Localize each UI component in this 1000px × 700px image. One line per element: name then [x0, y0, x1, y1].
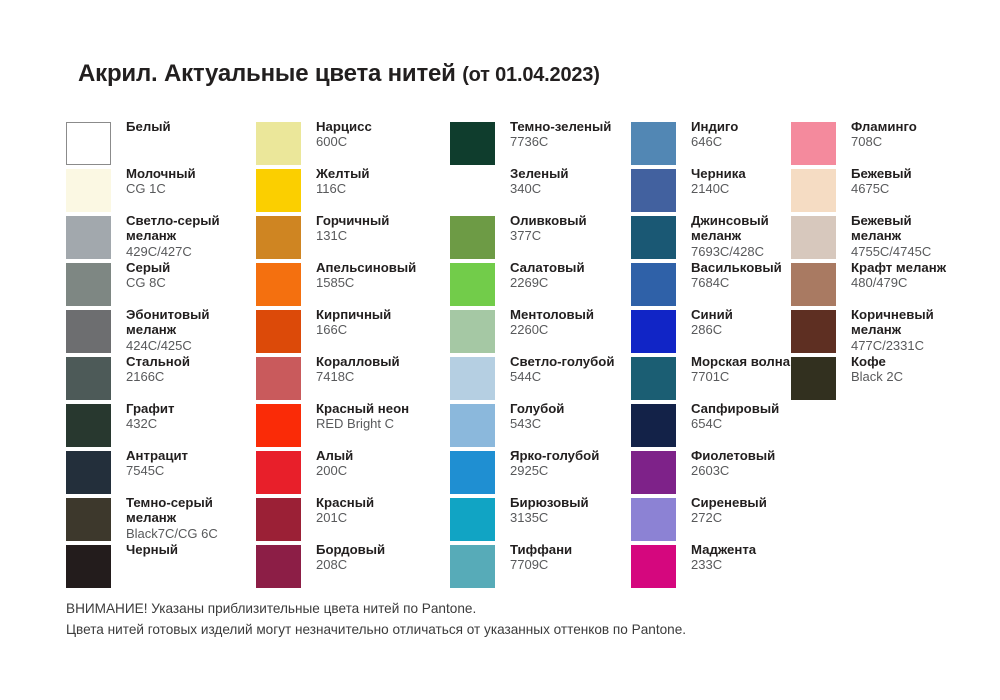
color-code: 2269C — [510, 275, 650, 290]
color-name: Графит — [126, 401, 266, 416]
color-name: Светло-серый меланж — [126, 213, 266, 244]
color-code: 2603C — [691, 463, 831, 478]
color-code: 208C — [316, 557, 466, 572]
color-swatch[interactable] — [450, 357, 495, 400]
swatch-row[interactable]: Бежевый меланж4755C/4745C — [791, 212, 991, 259]
color-name: Фиолетовый — [691, 448, 831, 463]
color-swatch[interactable] — [66, 263, 111, 306]
swatch-labels: Апельсиновый1585C — [316, 260, 466, 291]
color-code: 600C — [316, 134, 466, 149]
color-name: Коричневый меланж — [851, 307, 1000, 338]
swatch-labels: Бордовый208C — [316, 542, 466, 573]
color-swatch[interactable] — [631, 122, 676, 165]
swatch-row[interactable]: Фламинго708C — [791, 118, 991, 165]
swatch-row[interactable]: Ярко-голубой2925C — [450, 447, 630, 494]
swatch-row[interactable]: Салатовый2269C — [450, 259, 630, 306]
column-3-greens-blues: Темно-зеленый7736CЗеленый340CОливковый37… — [450, 118, 630, 588]
swatch-labels: Фламинго708C — [851, 119, 1000, 150]
color-code: 3135C — [510, 510, 650, 525]
color-swatch[interactable] — [791, 122, 836, 165]
swatch-row[interactable]: Графит432C — [66, 400, 256, 447]
swatch-labels: Красный неонRED Bright C — [316, 401, 466, 432]
swatch-row[interactable]: Бежевый4675C — [791, 165, 991, 212]
color-swatch[interactable] — [256, 122, 301, 165]
swatch-labels: Сиреневый272C — [691, 495, 831, 526]
swatch-row[interactable]: Кирпичный166C — [256, 306, 448, 353]
color-swatch[interactable] — [450, 545, 495, 588]
color-name: Нарцисс — [316, 119, 466, 134]
color-code: 424C/425C — [126, 338, 266, 353]
color-swatch[interactable] — [66, 216, 111, 259]
swatch-row[interactable]: КофеBlack 2C — [791, 353, 991, 400]
swatch-labels: Желтый116C — [316, 166, 466, 197]
swatch-row[interactable]: Бордовый208C — [256, 541, 448, 588]
swatch-row[interactable]: Тиффани7709C — [450, 541, 630, 588]
color-name: Фламинго — [851, 119, 1000, 134]
color-swatch[interactable] — [791, 263, 836, 306]
color-code: 432C — [126, 416, 266, 431]
swatch-row[interactable]: Апельсиновый1585C — [256, 259, 448, 306]
color-swatch[interactable] — [631, 169, 676, 212]
swatch-row[interactable]: Коричневый меланж477C/2331C — [791, 306, 991, 353]
swatch-labels: Бежевый меланж4755C/4745C — [851, 213, 1000, 259]
color-swatch[interactable] — [791, 357, 836, 400]
color-code: 377C — [510, 228, 650, 243]
swatch-row[interactable]: Коралловый7418C — [256, 353, 448, 400]
swatch-labels: Красный201C — [316, 495, 466, 526]
color-swatch[interactable] — [256, 169, 301, 212]
color-code: 7736C — [510, 134, 650, 149]
swatch-row[interactable]: Стальной2166C — [66, 353, 256, 400]
color-code: 116C — [316, 181, 466, 196]
color-swatch[interactable] — [66, 357, 111, 400]
swatch-labels: Алый200C — [316, 448, 466, 479]
swatch-row[interactable]: Синий286C — [631, 306, 791, 353]
footer-line-1: ВНИМАНИЕ! Указаны приблизительные цвета … — [66, 598, 946, 619]
color-code: CG 1C — [126, 181, 266, 196]
color-swatch[interactable] — [791, 310, 836, 353]
swatch-row[interactable]: Ментоловый2260C — [450, 306, 630, 353]
color-name: Голубой — [510, 401, 650, 416]
swatch-labels: Крафт меланж480/479C — [851, 260, 1000, 291]
swatch-row[interactable]: Антрацит7545C — [66, 447, 256, 494]
color-code: 4675C — [851, 181, 1000, 196]
swatch-row[interactable]: Маджента233C — [631, 541, 791, 588]
color-name: Ментоловый — [510, 307, 650, 322]
color-name: Сиреневый — [691, 495, 831, 510]
swatch-row[interactable]: Васильковый7684C — [631, 259, 791, 306]
color-swatch[interactable] — [631, 263, 676, 306]
color-code: 543C — [510, 416, 650, 431]
swatch-row[interactable]: МолочныйCG 1C — [66, 165, 256, 212]
color-code: 200C — [316, 463, 466, 478]
color-swatch[interactable] — [66, 545, 111, 588]
swatch-row[interactable]: Нарцисс600C — [256, 118, 448, 165]
color-name: Кирпичный — [316, 307, 466, 322]
color-name: Желтый — [316, 166, 466, 181]
swatch-row[interactable]: Белый — [66, 118, 256, 165]
column-1-neutrals: БелыйМолочныйCG 1CСветло-серый меланж429… — [66, 118, 256, 588]
color-swatch[interactable] — [256, 404, 301, 447]
color-swatch[interactable] — [631, 451, 676, 494]
column-5-pinks-browns: Фламинго708CБежевый4675CБежевый меланж47… — [791, 118, 991, 400]
color-code: 233C — [691, 557, 831, 572]
color-swatch[interactable] — [450, 122, 495, 165]
color-name: Эбонитовый меланж — [126, 307, 266, 338]
swatch-row[interactable]: Индиго646C — [631, 118, 791, 165]
color-name: Салатовый — [510, 260, 650, 275]
color-swatch[interactable] — [450, 451, 495, 494]
color-code: 7418C — [316, 369, 466, 384]
swatch-row[interactable]: Зеленый340C — [450, 165, 630, 212]
swatch-row[interactable]: Оливковый377C — [450, 212, 630, 259]
color-name: Крафт меланж — [851, 260, 1000, 275]
color-code: 429C/427C — [126, 244, 266, 259]
color-swatch[interactable] — [450, 498, 495, 541]
swatch-labels: СерыйCG 8C — [126, 260, 266, 291]
swatch-row[interactable]: Темно-серый меланжBlack7C/CG 6C — [66, 494, 256, 541]
color-name: Алый — [316, 448, 466, 463]
color-code: 272C — [691, 510, 831, 525]
color-swatch[interactable] — [631, 545, 676, 588]
color-swatch[interactable] — [631, 498, 676, 541]
color-name: Белый — [126, 119, 266, 134]
color-swatch[interactable] — [256, 357, 301, 400]
color-code: 1585C — [316, 275, 466, 290]
swatch-row[interactable]: Морская волна7701C — [631, 353, 791, 400]
color-code: 2166C — [126, 369, 266, 384]
color-swatch[interactable] — [450, 310, 495, 353]
color-name: Темно-серый меланж — [126, 495, 266, 526]
color-code: 166C — [316, 322, 466, 337]
color-swatch[interactable] — [66, 122, 111, 165]
color-name: Бежевый меланж — [851, 213, 1000, 244]
color-swatch[interactable] — [256, 310, 301, 353]
color-code: 7709C — [510, 557, 650, 572]
color-code: 544C — [510, 369, 650, 384]
color-code: 708C — [851, 134, 1000, 149]
color-swatch[interactable] — [450, 404, 495, 447]
color-swatch[interactable] — [66, 169, 111, 212]
swatch-labels: Оливковый377C — [510, 213, 650, 244]
color-code: 201C — [316, 510, 466, 525]
color-name: Апельсиновый — [316, 260, 466, 275]
swatch-row[interactable]: Горчичный131C — [256, 212, 448, 259]
swatch-labels: Голубой543C — [510, 401, 650, 432]
color-swatch[interactable] — [450, 263, 495, 306]
color-code: 7545C — [126, 463, 266, 478]
color-code: 131C — [316, 228, 466, 243]
swatch-row[interactable]: Светло-голубой544C — [450, 353, 630, 400]
swatch-labels: МолочныйCG 1C — [126, 166, 266, 197]
color-swatch[interactable] — [66, 451, 111, 494]
color-name: Горчичный — [316, 213, 466, 228]
color-name: Кофе — [851, 354, 1000, 369]
color-code: 2925C — [510, 463, 650, 478]
swatch-labels: Белый — [126, 119, 266, 134]
color-name: Бежевый — [851, 166, 1000, 181]
color-name: Черный — [126, 542, 266, 557]
swatch-labels: Фиолетовый2603C — [691, 448, 831, 479]
page-title-main: Акрил. Актуальные цвета нитей — [78, 60, 462, 87]
swatch-labels: Зеленый340C — [510, 166, 650, 197]
swatch-labels: Эбонитовый меланж424C/425C — [126, 307, 266, 353]
color-swatch[interactable] — [256, 216, 301, 259]
color-code: 4755C/4745C — [851, 244, 1000, 259]
swatch-labels: Коричневый меланж477C/2331C — [851, 307, 1000, 353]
swatch-row[interactable]: Черный — [66, 541, 256, 588]
color-swatch[interactable] — [631, 357, 676, 400]
color-name: Ярко-голубой — [510, 448, 650, 463]
swatch-labels: КофеBlack 2C — [851, 354, 1000, 385]
color-code: 480/479C — [851, 275, 1000, 290]
swatch-row[interactable]: СерыйCG 8C — [66, 259, 256, 306]
color-swatch[interactable] — [450, 216, 495, 259]
color-name: Красный неон — [316, 401, 466, 416]
color-swatch[interactable] — [450, 169, 495, 212]
color-name: Коралловый — [316, 354, 466, 369]
color-swatch[interactable] — [631, 216, 676, 259]
swatch-row[interactable]: Темно-зеленый7736C — [450, 118, 630, 165]
swatch-row[interactable]: Сапфировый654C — [631, 400, 791, 447]
footer-note: ВНИМАНИЕ! Указаны приблизительные цвета … — [66, 598, 946, 640]
color-swatch[interactable] — [66, 310, 111, 353]
color-swatch[interactable] — [256, 451, 301, 494]
color-code: 477C/2331C — [851, 338, 1000, 353]
swatch-row[interactable]: Сиреневый272C — [631, 494, 791, 541]
color-name: Серый — [126, 260, 266, 275]
swatch-labels: Темно-зеленый7736C — [510, 119, 650, 150]
swatch-labels: Ментоловый2260C — [510, 307, 650, 338]
swatch-row[interactable]: Красный201C — [256, 494, 448, 541]
swatch-row[interactable]: Красный неонRED Bright C — [256, 400, 448, 447]
color-name: Оливковый — [510, 213, 650, 228]
swatch-labels: Горчичный131C — [316, 213, 466, 244]
color-swatch[interactable] — [791, 169, 836, 212]
swatch-row[interactable]: Джинсовый меланж7693C/428C — [631, 212, 791, 259]
swatch-labels: Черный — [126, 542, 266, 557]
color-swatch[interactable] — [256, 498, 301, 541]
color-name: Антрацит — [126, 448, 266, 463]
swatch-labels: Кирпичный166C — [316, 307, 466, 338]
page-title-date: (от 01.04.2023) — [462, 64, 600, 86]
swatch-row[interactable]: Фиолетовый2603C — [631, 447, 791, 494]
color-name: Молочный — [126, 166, 266, 181]
column-2-warm: Нарцисс600CЖелтый116CГорчичный131CАпельс… — [256, 118, 448, 588]
column-4-blues-purples: Индиго646CЧерника2140CДжинсовый меланж76… — [631, 118, 791, 588]
swatch-row[interactable]: Крафт меланж480/479C — [791, 259, 991, 306]
color-name: Светло-голубой — [510, 354, 650, 369]
swatch-labels: Стальной2166C — [126, 354, 266, 385]
color-name: Бирюзовый — [510, 495, 650, 510]
color-code: Black7C/CG 6C — [126, 526, 266, 541]
color-swatch[interactable] — [631, 404, 676, 447]
swatch-labels: Нарцисс600C — [316, 119, 466, 150]
swatch-row[interactable]: Черника2140C — [631, 165, 791, 212]
color-name: Зеленый — [510, 166, 650, 181]
color-name: Маджента — [691, 542, 831, 557]
color-name: Темно-зеленый — [510, 119, 650, 134]
color-name: Тиффани — [510, 542, 650, 557]
color-name: Красный — [316, 495, 466, 510]
swatch-labels: Графит432C — [126, 401, 266, 432]
swatch-labels: Ярко-голубой2925C — [510, 448, 650, 479]
swatch-labels: Светло-серый меланж429C/427C — [126, 213, 266, 259]
color-swatch[interactable] — [66, 498, 111, 541]
swatch-labels: Светло-голубой544C — [510, 354, 650, 385]
swatch-row[interactable]: Желтый116C — [256, 165, 448, 212]
swatch-labels: Бирюзовый3135C — [510, 495, 650, 526]
swatch-labels: Тиффани7709C — [510, 542, 650, 573]
color-code: 654C — [691, 416, 831, 431]
color-swatch[interactable] — [256, 263, 301, 306]
color-swatch[interactable] — [66, 404, 111, 447]
swatch-labels: Коралловый7418C — [316, 354, 466, 385]
swatch-row[interactable]: Светло-серый меланж429C/427C — [66, 212, 256, 259]
color-code: Black 2C — [851, 369, 1000, 384]
color-code: RED Bright C — [316, 416, 466, 431]
swatch-row[interactable]: Эбонитовый меланж424C/425C — [66, 306, 256, 353]
color-code: 340C — [510, 181, 650, 196]
swatch-labels: Темно-серый меланжBlack7C/CG 6C — [126, 495, 266, 541]
color-name: Стальной — [126, 354, 266, 369]
color-swatch[interactable] — [791, 216, 836, 259]
color-swatch[interactable] — [256, 545, 301, 588]
page-title: Акрил. Актуальные цвета нитей (от 01.04.… — [78, 60, 600, 88]
color-name: Бордовый — [316, 542, 466, 557]
footer-line-2: Цвета нитей готовых изделий могут незнач… — [66, 619, 946, 640]
swatch-labels: Бежевый4675C — [851, 166, 1000, 197]
swatch-labels: Сапфировый654C — [691, 401, 831, 432]
swatch-labels: Антрацит7545C — [126, 448, 266, 479]
swatch-labels: Салатовый2269C — [510, 260, 650, 291]
swatch-labels: Маджента233C — [691, 542, 831, 573]
swatch-row[interactable]: Бирюзовый3135C — [450, 494, 630, 541]
swatch-row[interactable]: Голубой543C — [450, 400, 630, 447]
color-swatch[interactable] — [631, 310, 676, 353]
swatch-row[interactable]: Алый200C — [256, 447, 448, 494]
color-name: Сапфировый — [691, 401, 831, 416]
color-chart-page: Акрил. Актуальные цвета нитей (от 01.04.… — [0, 0, 1000, 700]
color-code: 2260C — [510, 322, 650, 337]
color-code: CG 8C — [126, 275, 266, 290]
